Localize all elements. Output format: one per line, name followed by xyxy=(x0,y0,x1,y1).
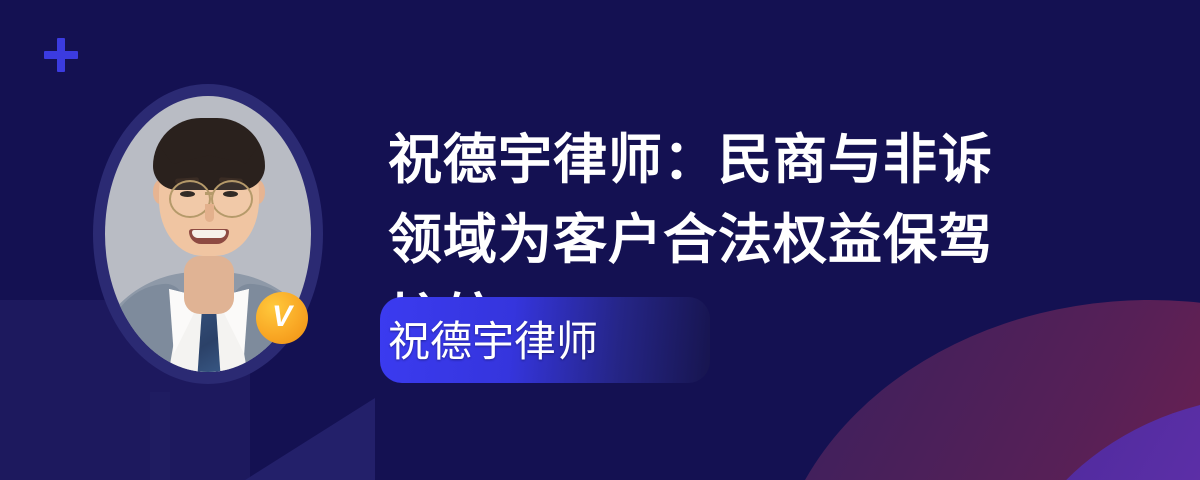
verified-badge-icon: V xyxy=(256,292,308,344)
title-line-2: 领域为客户合法权益保驾 xyxy=(388,200,1088,280)
portrait-teeth xyxy=(192,230,226,238)
background-shape-band xyxy=(150,392,170,480)
name-badge-label: 祝德宇律师 xyxy=(388,318,788,366)
portrait-nose xyxy=(205,204,214,222)
verified-badge-label: V xyxy=(272,302,292,332)
glasses-bridge-icon xyxy=(205,192,213,195)
glasses-lens-right-icon xyxy=(211,180,253,218)
plus-icon xyxy=(44,38,78,72)
avatar xyxy=(93,84,323,394)
title-line-1: 祝德宇律师：民商与非诉 xyxy=(388,120,1088,200)
portrait-neck xyxy=(184,256,234,314)
promo-banner: V 祝德宇律师：民商与非诉 领域为客户合法权益保驾 护航 祝德宇律师 xyxy=(0,0,1200,480)
